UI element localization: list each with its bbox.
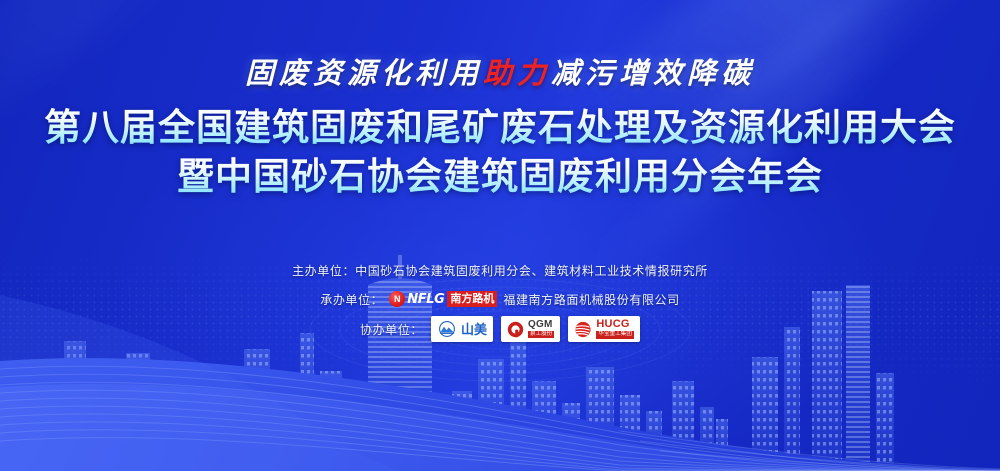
tagline-part-1: 固废资源化利用 bbox=[245, 56, 483, 90]
sponsor-qgm-text: QGM 泉工股份 bbox=[528, 320, 554, 339]
sponsor-hucg-text: HUCG 华宝重工集团 bbox=[596, 319, 634, 339]
cohost-label: 协办单位： bbox=[360, 321, 423, 338]
title-line-1: 第八届全国建筑固废和尾矿废石处理及资源化利用大会 bbox=[0, 105, 1000, 151]
sponsor-shanmei-name: 山美 bbox=[461, 323, 487, 336]
sponsor-hucg-sub: 华宝重工集团 bbox=[596, 331, 634, 339]
sponsor-chip-qgm: QGM 泉工股份 bbox=[501, 316, 560, 342]
q-icon bbox=[507, 321, 524, 338]
nflg-emblem-icon: N bbox=[389, 291, 405, 307]
conference-banner: 固废资源化利用助力减污增效降碳 第八届全国建筑固废和尾矿废石处理及资源化利用大会… bbox=[0, 0, 1000, 471]
nflg-cn-name: 南方路机 bbox=[447, 291, 497, 307]
cohost-row: 协办单位： 山美 bbox=[0, 316, 1000, 342]
organizer-label: 承办单位： bbox=[320, 291, 383, 308]
host-label: 主办单位： bbox=[292, 262, 355, 279]
nflg-logo: N NFLG 南方路机 bbox=[389, 291, 497, 308]
title-block: 第八届全国建筑固废和尾矿废石处理及资源化利用大会 暨中国砂石协会建筑固废利用分会… bbox=[0, 105, 1000, 200]
organizer-row: 承办单位： N NFLG 南方路机 福建南方路面机械股份有限公司 bbox=[0, 287, 1000, 311]
tagline-part-2: 减污增效降碳 bbox=[551, 56, 755, 90]
nflg-wordmark: NFLG bbox=[405, 292, 447, 307]
sponsor-shanmei-text: 山美 bbox=[461, 323, 487, 336]
sponsor-hucg-name: HUCG bbox=[596, 319, 634, 330]
tagline: 固废资源化利用助力减污增效降碳 bbox=[0, 50, 1000, 92]
organizer-value: 福建南方路面机械股份有限公司 bbox=[503, 291, 679, 308]
sponsor-chip-hucg: HUCG 华宝重工集团 bbox=[568, 316, 640, 342]
organizations-block: 主办单位： 中国砂石协会建筑固废利用分会、建筑材料工业技术情报研究所 承办单位：… bbox=[0, 258, 1000, 342]
mountain-icon bbox=[437, 321, 457, 337]
tagline-highlight: 助力 bbox=[483, 56, 551, 90]
host-value: 中国砂石协会建筑固废利用分会、建筑材料工业技术情报研究所 bbox=[355, 262, 708, 279]
swoosh-icon bbox=[574, 321, 592, 338]
sponsor-chip-shanmei: 山美 bbox=[431, 316, 493, 342]
sponsor-qgm-name: QGM bbox=[528, 320, 554, 330]
title-line-2: 暨中国砂石协会建筑固废利用分会年会 bbox=[0, 154, 1000, 200]
sponsor-logos: 山美 QGM 泉工股份 bbox=[431, 316, 640, 342]
sponsor-qgm-sub: 泉工股份 bbox=[528, 331, 554, 339]
host-row: 主办单位： 中国砂石协会建筑固废利用分会、建筑材料工业技术情报研究所 bbox=[0, 258, 1000, 282]
banner-content: 固废资源化利用助力减污增效降碳 第八届全国建筑固废和尾矿废石处理及资源化利用大会… bbox=[0, 0, 1000, 471]
